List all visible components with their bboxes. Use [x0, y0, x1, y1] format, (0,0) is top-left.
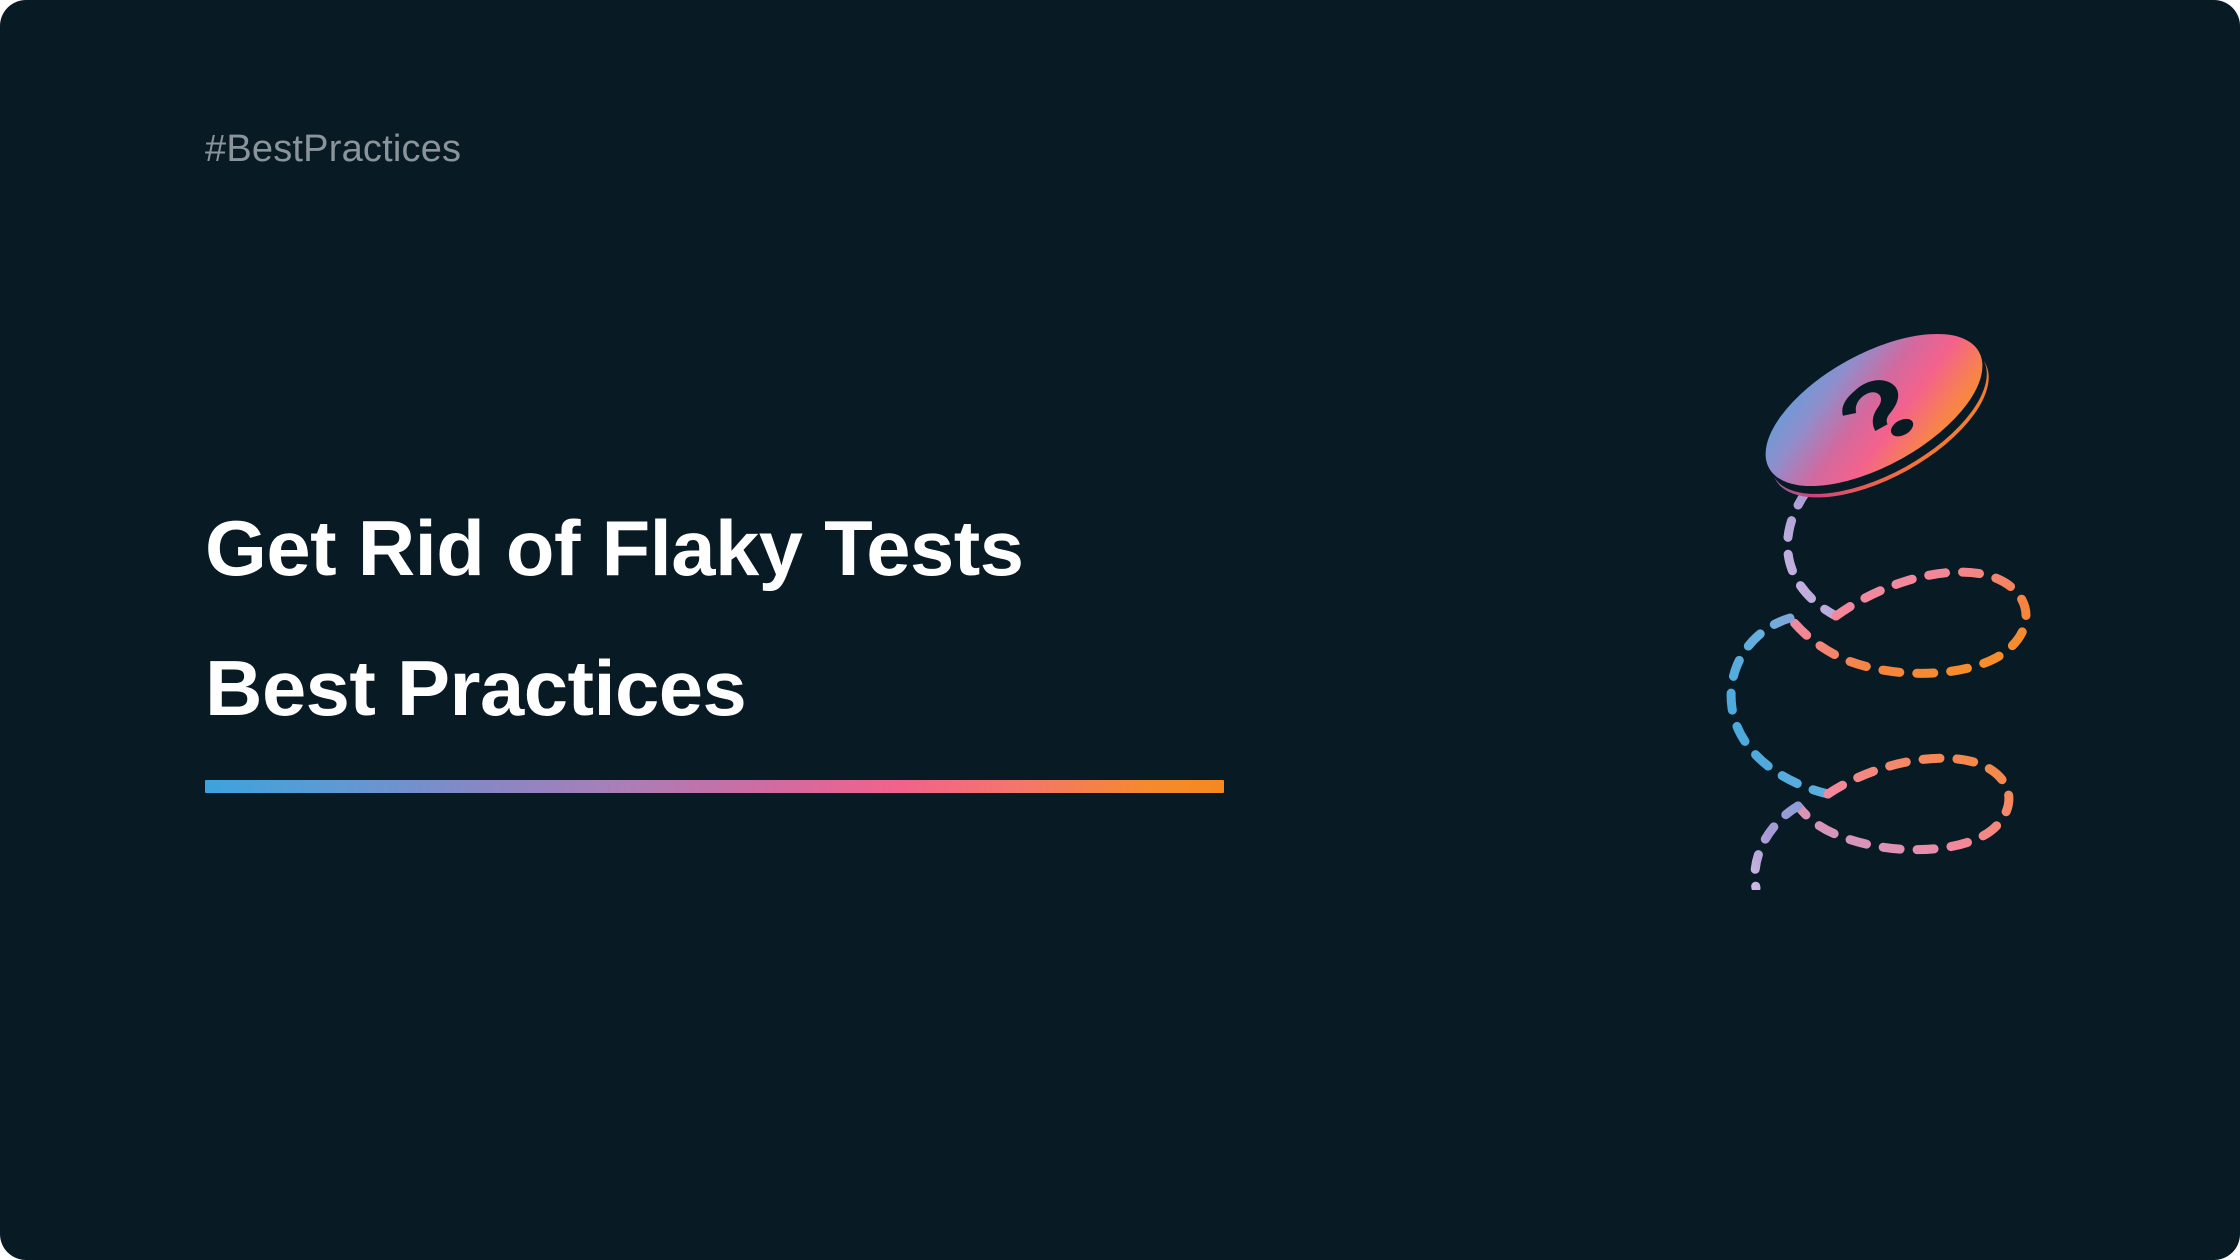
illustration-question-mark-disc [1650, 330, 2050, 890]
banner-canvas: #BestPractices Get Rid of Flaky Tests Be… [0, 0, 2240, 1260]
gradient-divider [205, 780, 1224, 793]
page-title: Get Rid of Flaky Tests Best Practices [205, 478, 1455, 758]
spiral-segment-left-descend [1731, 618, 1828, 794]
spiral-segment-lower-loop [1798, 758, 2009, 849]
spiral-segment-tail [1755, 806, 1798, 888]
page-title-line-1: Get Rid of Flaky Tests [205, 478, 1480, 618]
page-title-line-2: Best Practices [205, 618, 1480, 758]
disc-group [1742, 330, 2013, 529]
eyebrow-hashtag: #BestPractices [205, 130, 461, 168]
spiral-segment-upper-loop [1790, 572, 2026, 673]
